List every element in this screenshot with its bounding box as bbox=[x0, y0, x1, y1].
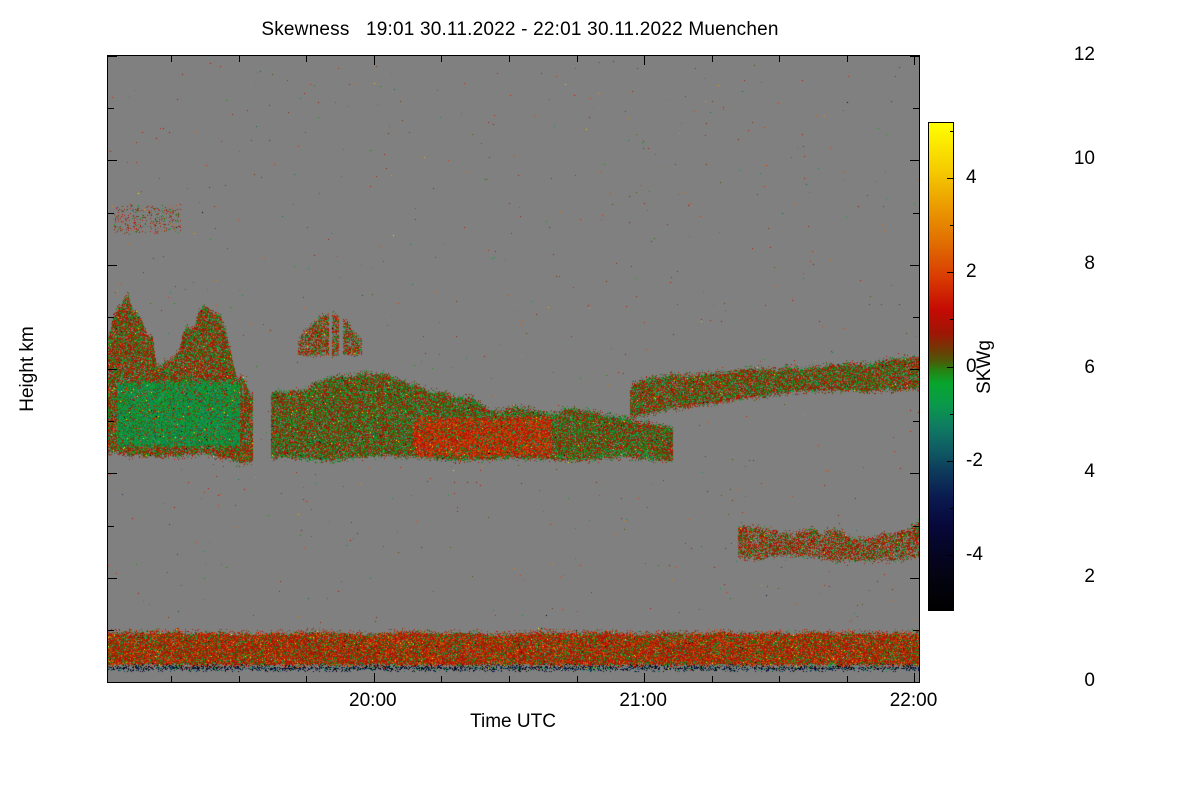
colorbar-tick-label: 2 bbox=[966, 261, 977, 283]
y-axis-title: Height km bbox=[17, 326, 39, 412]
y-tick-label: 10 bbox=[1074, 148, 1095, 170]
y-tick-label: 8 bbox=[1084, 253, 1095, 275]
colorbar-tick-major bbox=[947, 367, 954, 368]
x-tick-label: 20:00 bbox=[349, 690, 397, 712]
y-tick-major bbox=[910, 160, 919, 161]
y-tick-minor bbox=[913, 526, 919, 527]
page-title: Skewness 19:01 30.11.2022 - 22:01 30.11.… bbox=[0, 19, 1040, 41]
y-tick-minor bbox=[108, 213, 114, 214]
colorbar-tick-label: -2 bbox=[966, 450, 983, 472]
y-tick-minor bbox=[913, 421, 919, 422]
colorbar-tick-minor bbox=[950, 225, 954, 226]
x-tick-label: 22:00 bbox=[890, 690, 938, 712]
x-tick-major bbox=[374, 673, 375, 682]
x-tick-minor bbox=[847, 56, 848, 62]
y-tick-major bbox=[108, 160, 117, 161]
y-tick-major bbox=[108, 682, 117, 683]
y-tick-minor bbox=[913, 630, 919, 631]
colorbar[interactable]: 420-2-4 bbox=[928, 122, 954, 611]
x-tick-major bbox=[914, 56, 915, 65]
y-tick-major bbox=[910, 578, 919, 579]
x-tick-minor bbox=[779, 676, 780, 682]
colorbar-tick-major bbox=[947, 461, 954, 462]
y-tick-minor bbox=[913, 108, 919, 109]
x-tick-major bbox=[914, 673, 915, 682]
y-tick-major bbox=[108, 265, 117, 266]
x-tick-minor bbox=[577, 676, 578, 682]
y-tick-minor bbox=[108, 421, 114, 422]
colorbar-tick-minor bbox=[950, 508, 954, 509]
skewness-heatmap bbox=[108, 56, 919, 682]
colorbar-tick-major bbox=[947, 555, 954, 556]
y-tick-major bbox=[108, 473, 117, 474]
y-tick-minor bbox=[108, 108, 114, 109]
colorbar-tick-minor bbox=[950, 319, 954, 320]
figure-root: Skewness 19:01 30.11.2022 - 22:01 30.11.… bbox=[0, 0, 1200, 800]
x-tick-minor bbox=[712, 56, 713, 62]
x-tick-minor bbox=[441, 56, 442, 62]
x-tick-minor bbox=[847, 676, 848, 682]
x-tick-minor bbox=[441, 676, 442, 682]
y-tick-label: 2 bbox=[1084, 566, 1095, 588]
x-tick-minor bbox=[239, 56, 240, 62]
x-tick-minor bbox=[779, 56, 780, 62]
y-tick-major bbox=[108, 578, 117, 579]
y-tick-label: 4 bbox=[1084, 461, 1095, 483]
x-tick-minor bbox=[171, 676, 172, 682]
colorbar-title: SKWg bbox=[974, 340, 996, 394]
y-tick-major bbox=[910, 682, 919, 683]
y-tick-label: 12 bbox=[1074, 44, 1095, 66]
colorbar-tick-label: 4 bbox=[966, 167, 977, 189]
x-tick-minor bbox=[509, 676, 510, 682]
y-tick-minor bbox=[913, 317, 919, 318]
y-tick-major bbox=[108, 56, 117, 57]
y-tick-minor bbox=[108, 526, 114, 527]
colorbar-tick-minor bbox=[950, 602, 954, 603]
y-tick-major bbox=[910, 369, 919, 370]
x-tick-minor bbox=[577, 56, 578, 62]
y-tick-minor bbox=[108, 630, 114, 631]
x-tick-label: 21:00 bbox=[619, 690, 667, 712]
colorbar-tick-major bbox=[947, 178, 954, 179]
x-tick-minor bbox=[306, 56, 307, 62]
x-axis-title: Time UTC bbox=[470, 711, 556, 733]
y-tick-minor bbox=[108, 317, 114, 318]
x-tick-minor bbox=[306, 676, 307, 682]
x-tick-minor bbox=[239, 676, 240, 682]
x-tick-minor bbox=[171, 56, 172, 62]
colorbar-tick-minor bbox=[950, 414, 954, 415]
y-tick-major bbox=[910, 265, 919, 266]
colorbar-tick-label: -4 bbox=[966, 544, 983, 566]
x-tick-major bbox=[644, 56, 645, 65]
x-tick-major bbox=[374, 56, 375, 65]
x-tick-minor bbox=[509, 56, 510, 62]
y-tick-minor bbox=[913, 213, 919, 214]
colorbar-tick-minor bbox=[950, 131, 954, 132]
y-tick-label: 0 bbox=[1084, 670, 1095, 692]
plot-area[interactable] bbox=[107, 55, 920, 683]
y-tick-major bbox=[108, 369, 117, 370]
colorbar-tick-major bbox=[947, 272, 954, 273]
y-tick-label: 6 bbox=[1084, 357, 1095, 379]
x-tick-minor bbox=[712, 676, 713, 682]
x-tick-major bbox=[644, 673, 645, 682]
y-tick-major bbox=[910, 473, 919, 474]
